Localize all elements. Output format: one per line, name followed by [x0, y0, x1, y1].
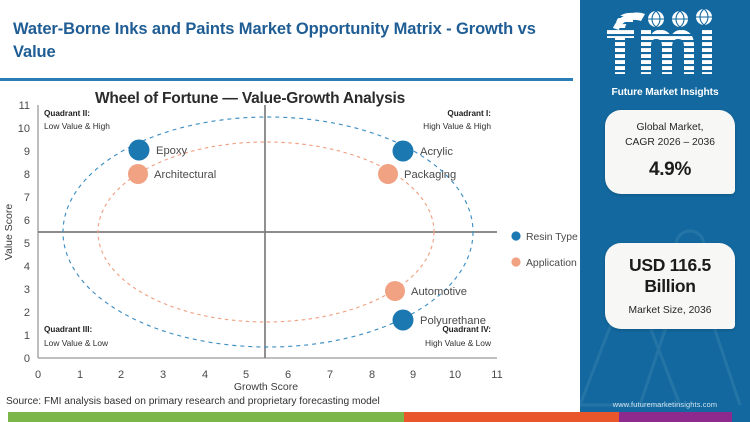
- x-tick-11: 11: [491, 369, 502, 381]
- x-tick-2: 2: [118, 369, 124, 381]
- y-tick-8: 8: [24, 169, 30, 181]
- legend-swatch-application: [511, 257, 520, 266]
- bar-pad-left: [0, 412, 8, 422]
- quadrant-2: Quadrant II: Low Value & High: [44, 109, 110, 131]
- data-point-acrylic[interactable]: [393, 141, 414, 162]
- data-point-epoxy[interactable]: [129, 140, 150, 161]
- page-title: Water-Borne Inks and Paints Market Oppor…: [13, 18, 573, 65]
- y-tick-5: 5: [24, 238, 30, 250]
- x-tick-10: 10: [449, 369, 461, 381]
- quadrant-1-sub: High Value & High: [423, 121, 491, 131]
- y-tick-6: 6: [24, 215, 30, 227]
- content-panel: Water-Borne Inks and Paints Market Oppor…: [0, 0, 580, 422]
- header-divider: [0, 78, 573, 81]
- x-axis-ticks: 0 1 2 3 4 5 6 7 8 9 10 11: [35, 369, 503, 381]
- bar-segment-purple: [619, 412, 732, 422]
- chart-legend: Resin Type Application: [511, 231, 578, 269]
- fmi-logo-icon: [601, 8, 729, 80]
- brand-logo: Future Market Insights: [580, 8, 750, 98]
- infographic-root: Water-Borne Inks and Paints Market Oppor…: [0, 0, 750, 422]
- data-label-automotive: Automotive: [411, 286, 467, 298]
- market-size-caption: Market Size, 2036: [605, 304, 735, 319]
- bar-segment-blue: [732, 412, 750, 422]
- stat-card-market-size: USD 116.5 Billion Market Size, 2036: [605, 243, 735, 329]
- x-tick-6: 6: [285, 369, 291, 381]
- y-tick-0: 0: [24, 353, 30, 365]
- data-label-packaging: Packaging: [404, 169, 456, 181]
- brand-tagline: Future Market Insights: [580, 87, 750, 98]
- quadrant-3: Quadrant III: Low Value & Low: [44, 325, 109, 348]
- bottom-color-bar: [0, 412, 750, 422]
- data-label-polyurethane: Polyurethane: [420, 315, 486, 327]
- x-tick-7: 7: [327, 369, 333, 381]
- stat-card-cagr: Global Market, CAGR 2026 – 2036 4.9%: [605, 110, 735, 194]
- market-size-value-line2: Billion: [605, 276, 735, 297]
- x-tick-4: 4: [202, 369, 208, 381]
- quadrant-2-head: Quadrant II:: [44, 109, 90, 118]
- data-point-packaging[interactable]: [378, 164, 398, 184]
- quadrant-4: Quadrant IV: High Value & Low: [425, 325, 492, 348]
- cagr-caption-line1: Global Market,: [605, 121, 735, 136]
- source-note: Source: FMI analysis based on primary re…: [6, 396, 566, 407]
- x-tick-1: 1: [77, 369, 83, 381]
- quadrant-1: Quadrant I: High Value & High: [423, 109, 491, 131]
- y-axis-title: Value Score: [3, 204, 15, 261]
- y-tick-9: 9: [24, 146, 30, 158]
- x-tick-8: 8: [369, 369, 375, 381]
- cagr-caption-line2: CAGR 2026 – 2036: [605, 136, 735, 151]
- y-tick-11: 11: [19, 100, 30, 112]
- y-axis-ticks: 11 10 9 8 7 6 5 4 3 2 1 0: [18, 100, 30, 365]
- y-tick-10: 10: [18, 123, 30, 135]
- y-tick-1: 1: [24, 330, 30, 342]
- chart-container: Wheel of Fortune — Value-Growth Analysis…: [0, 84, 580, 394]
- y-tick-7: 7: [24, 192, 30, 204]
- x-tick-0: 0: [35, 369, 41, 381]
- quadrant-2-sub: Low Value & High: [44, 121, 110, 131]
- x-tick-9: 9: [410, 369, 416, 381]
- x-tick-5: 5: [243, 369, 249, 381]
- y-tick-4: 4: [24, 261, 30, 273]
- data-label-architectural: Architectural: [154, 169, 216, 181]
- x-axis-title: Growth Score: [234, 381, 298, 393]
- quadrant-3-head: Quadrant III:: [44, 325, 92, 334]
- scatter-plot: 11 10 9 8 7 6 5 4 3 2 1 0 0 1 2: [0, 84, 580, 394]
- x-tick-3: 3: [160, 369, 166, 381]
- legend-label-resin-type: Resin Type: [526, 232, 578, 243]
- quadrant-3-sub: Low Value & Low: [44, 338, 109, 348]
- market-size-value-line1: USD 116.5: [605, 255, 735, 276]
- brand-panel: Future Market Insights Global Market, CA…: [580, 0, 750, 422]
- y-tick-3: 3: [24, 284, 30, 296]
- cagr-value: 4.9%: [605, 159, 735, 181]
- data-point-polyurethane[interactable]: [393, 310, 414, 331]
- quadrant-4-sub: High Value & Low: [425, 338, 492, 348]
- y-tick-2: 2: [24, 307, 30, 319]
- bar-segment-orange: [404, 412, 619, 422]
- quadrant-1-head: Quadrant I:: [447, 109, 491, 118]
- header: Water-Borne Inks and Paints Market Oppor…: [0, 4, 580, 74]
- legend-swatch-resin-type: [511, 231, 520, 240]
- legend-label-application: Application: [526, 258, 577, 269]
- bar-segment-green: [8, 412, 404, 422]
- brand-url[interactable]: www.futuremarketinsights.com: [580, 400, 750, 409]
- data-point-automotive[interactable]: [385, 281, 405, 301]
- data-label-epoxy: Epoxy: [156, 145, 187, 157]
- data-label-acrylic: Acrylic: [420, 146, 453, 158]
- data-point-architectural[interactable]: [128, 164, 148, 184]
